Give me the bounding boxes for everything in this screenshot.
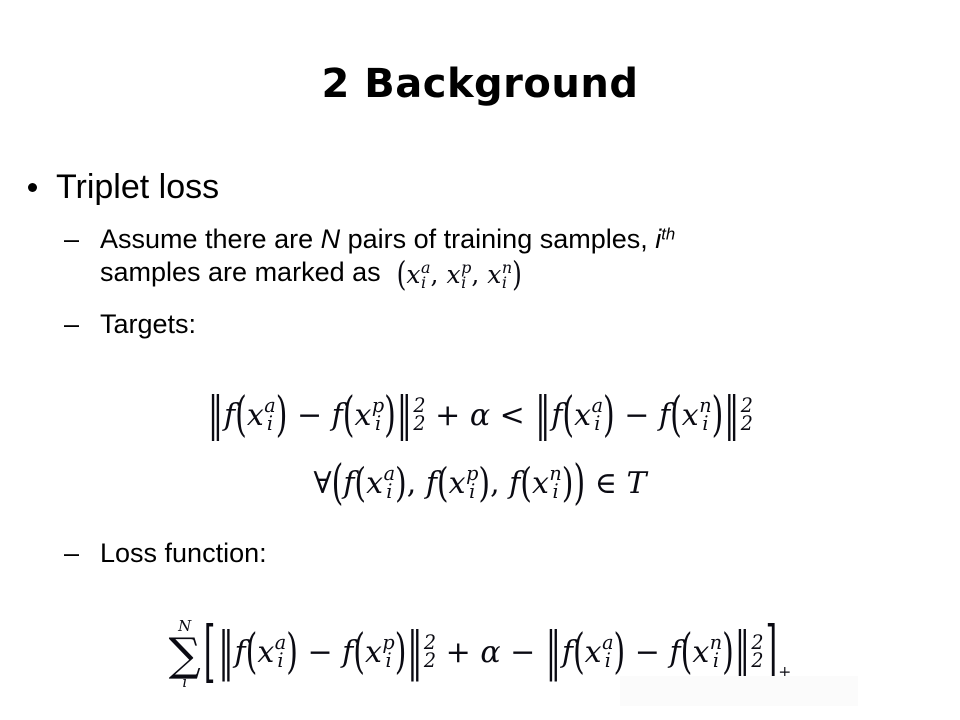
- page-title: 2 Background: [0, 62, 960, 106]
- equation-forall-triplets: ∀(f(xai), f(xpi), f(xni)) ∈ T: [0, 466, 960, 503]
- dash-bullet-icon: –: [64, 223, 79, 256]
- dash-bullet-icon-2: –: [64, 308, 79, 341]
- marked-as-text: samples are marked as: [100, 257, 381, 287]
- equation-1-content: ‖f(xai) − f(xpi)‖22 + α < ‖f(xai) − f(xn…: [207, 398, 753, 433]
- summation-operator: N∑i: [169, 619, 201, 690]
- superscript-th: th: [661, 224, 675, 243]
- equation-targets-inequality: ‖f(xai) − f(xpi)‖22 + α < ‖f(xai) − f(xn…: [0, 398, 960, 435]
- bullet-level1-label: Triplet loss: [56, 168, 219, 206]
- background-artifact-patch: [620, 676, 858, 706]
- slide-body: Triplet loss – Assume there are N pairs …: [22, 168, 938, 570]
- assume-line-1: Assume there are N pairs of training sam…: [100, 223, 938, 256]
- assume-text-mid: pairs of training samples,: [340, 224, 655, 254]
- dash-bullet-icon-3: –: [64, 537, 79, 570]
- targets-label: Targets:: [100, 309, 196, 339]
- sum-lower-limit: i: [182, 675, 187, 690]
- loss-function-label: Loss function:: [100, 538, 267, 568]
- bullet-dot-icon: [28, 183, 37, 192]
- assume-text-before: Assume there are: [100, 224, 321, 254]
- equation-3-content: N∑i[‖f(xai) − f(xpi)‖22 + α − ‖f(xai) − …: [169, 635, 792, 670]
- sub-bullet-loss-function: – Loss function:: [22, 537, 938, 570]
- inline-math-triplet-tuple: (xai, xpi, xni): [397, 260, 522, 289]
- sub-bullet-targets: – Targets:: [22, 308, 938, 341]
- sub-bullet-assume: – Assume there are N pairs of training s…: [22, 223, 938, 290]
- italic-N: N: [321, 224, 341, 254]
- assume-line-2: samples are marked as(xai, xpi, xni): [100, 256, 938, 290]
- slide-canvas: 2 Background Triplet loss – Assume there…: [0, 0, 960, 720]
- equation-2-content: ∀(f(xai), f(xpi), f(xni)) ∈ T: [313, 466, 646, 501]
- bullet-triplet-loss: Triplet loss: [22, 168, 938, 207]
